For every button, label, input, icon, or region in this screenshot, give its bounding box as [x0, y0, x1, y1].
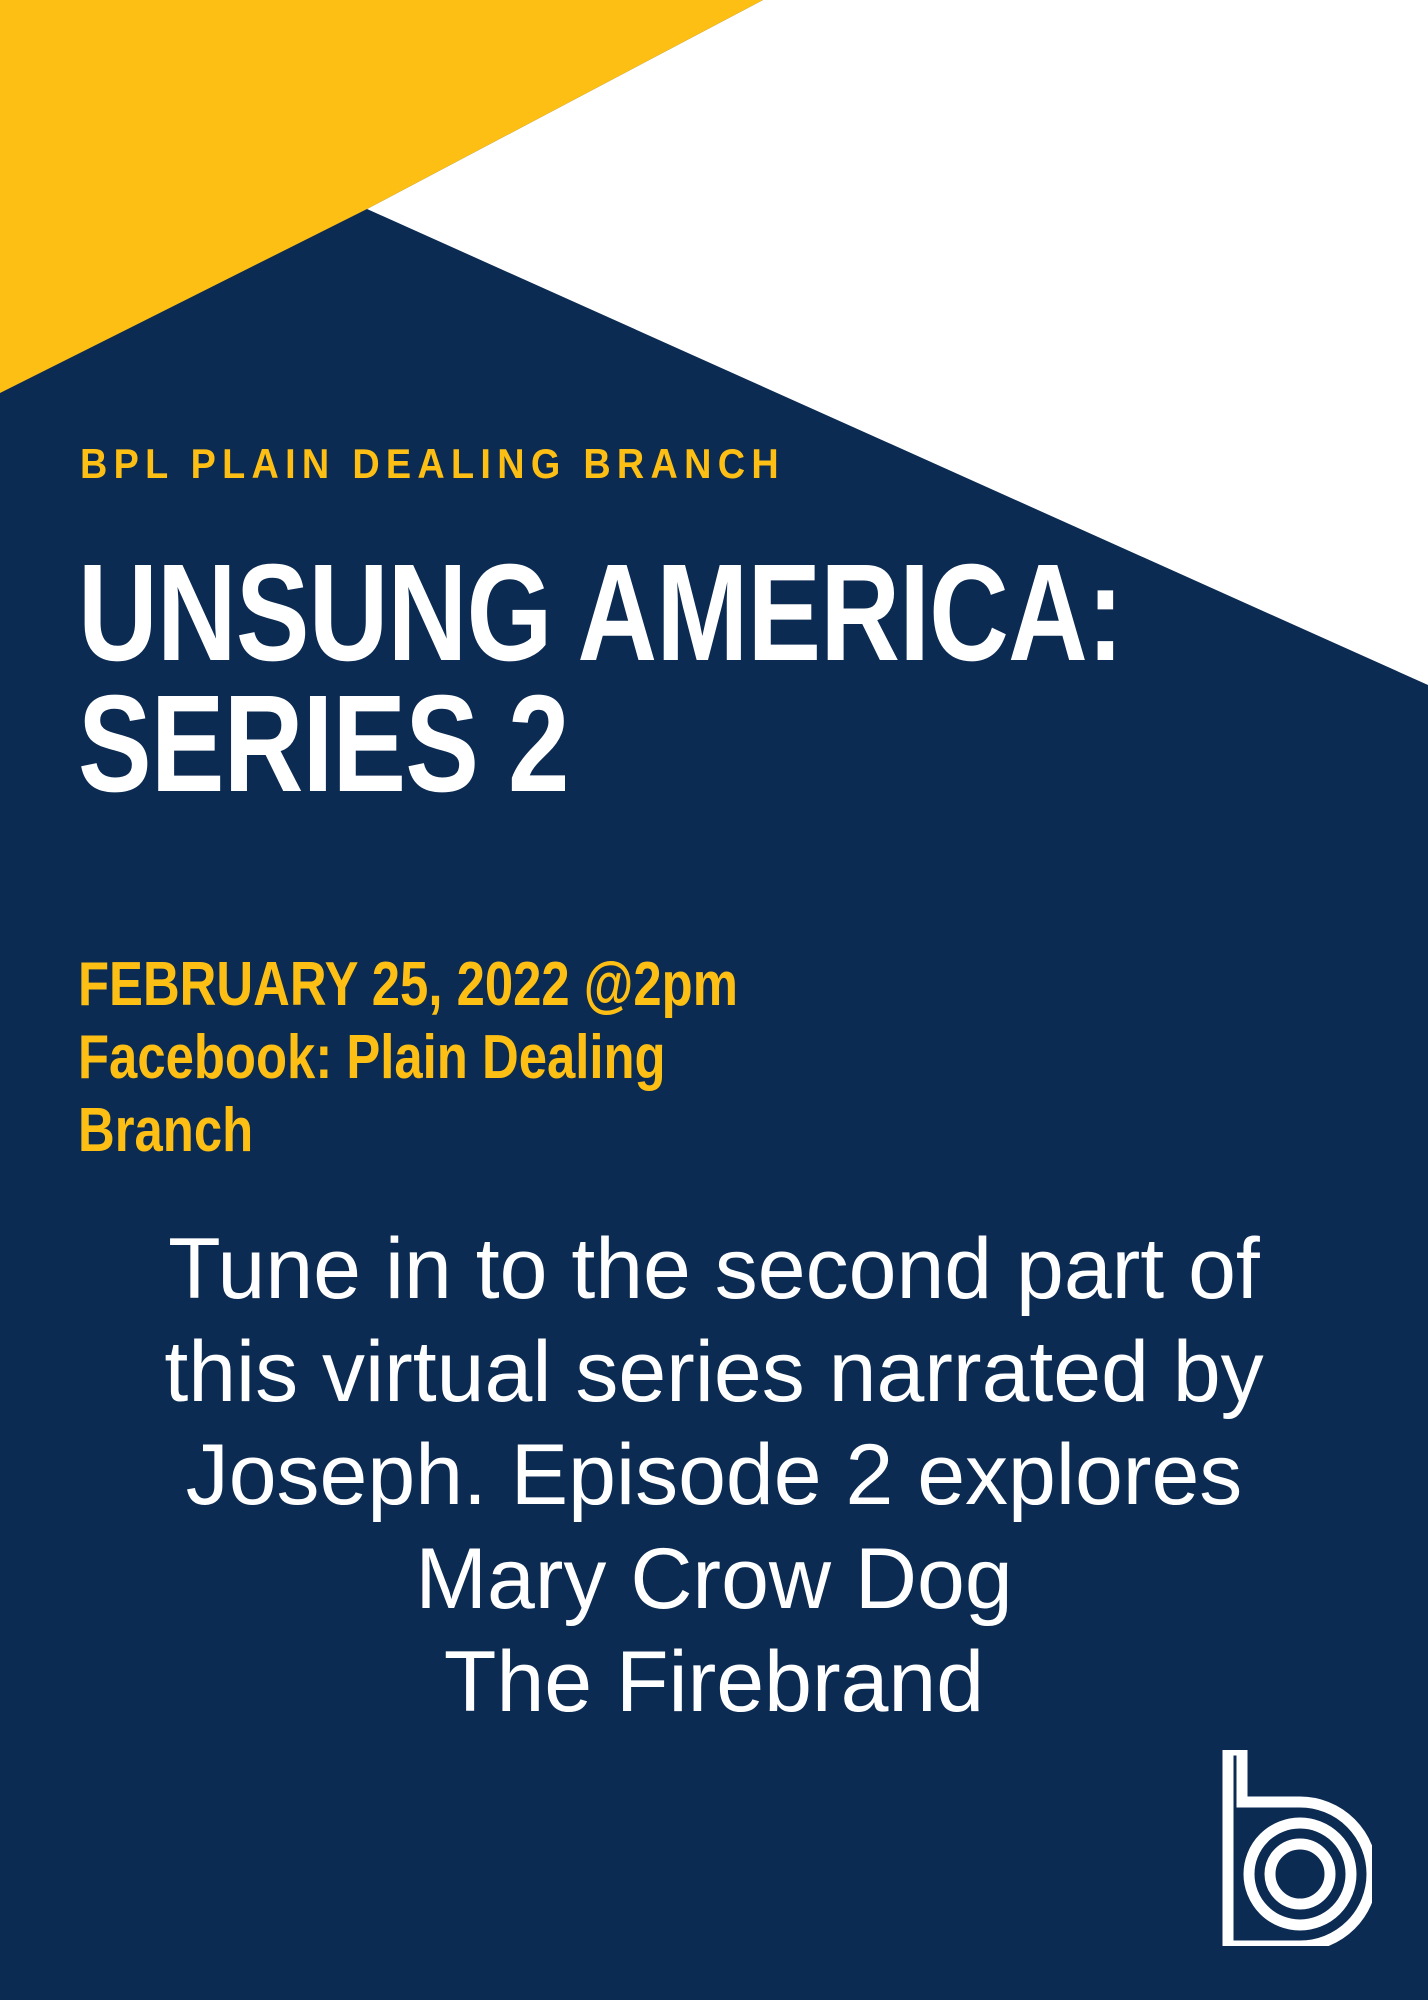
- event-description: Tune in to the second part of this virtu…: [40, 1218, 1388, 1734]
- branch-eyebrow: BPL PLAIN DEALING BRANCH: [80, 442, 1232, 486]
- flyer-content: BPL PLAIN DEALING BRANCH UNSUNG AMERICA:…: [0, 0, 1428, 2000]
- description-line-1: Tune in to the second part of: [40, 1218, 1388, 1321]
- bpl-logo-icon: [1204, 1750, 1372, 1946]
- title-line-1: UNSUNG AMERICA:: [78, 548, 1118, 679]
- event-platform-line-1: Facebook: Plain Dealing: [78, 1021, 767, 1094]
- description-line-2: this virtual series narrated by: [40, 1321, 1388, 1424]
- event-datetime: FEBRUARY 25, 2022 @2pm: [78, 948, 767, 1021]
- event-flyer: BPL PLAIN DEALING BRANCH UNSUNG AMERICA:…: [0, 0, 1428, 2000]
- description-line-5: The Firebrand: [40, 1631, 1388, 1734]
- event-details: FEBRUARY 25, 2022 @2pm Facebook: Plain D…: [78, 948, 767, 1167]
- description-line-4: Mary Crow Dog: [40, 1528, 1388, 1631]
- description-line-3: Joseph. Episode 2 explores: [40, 1424, 1388, 1527]
- title-line-2: SERIES 2: [78, 679, 1118, 810]
- page-title: UNSUNG AMERICA: SERIES 2: [78, 548, 1118, 810]
- event-platform-line-2: Branch: [78, 1094, 767, 1167]
